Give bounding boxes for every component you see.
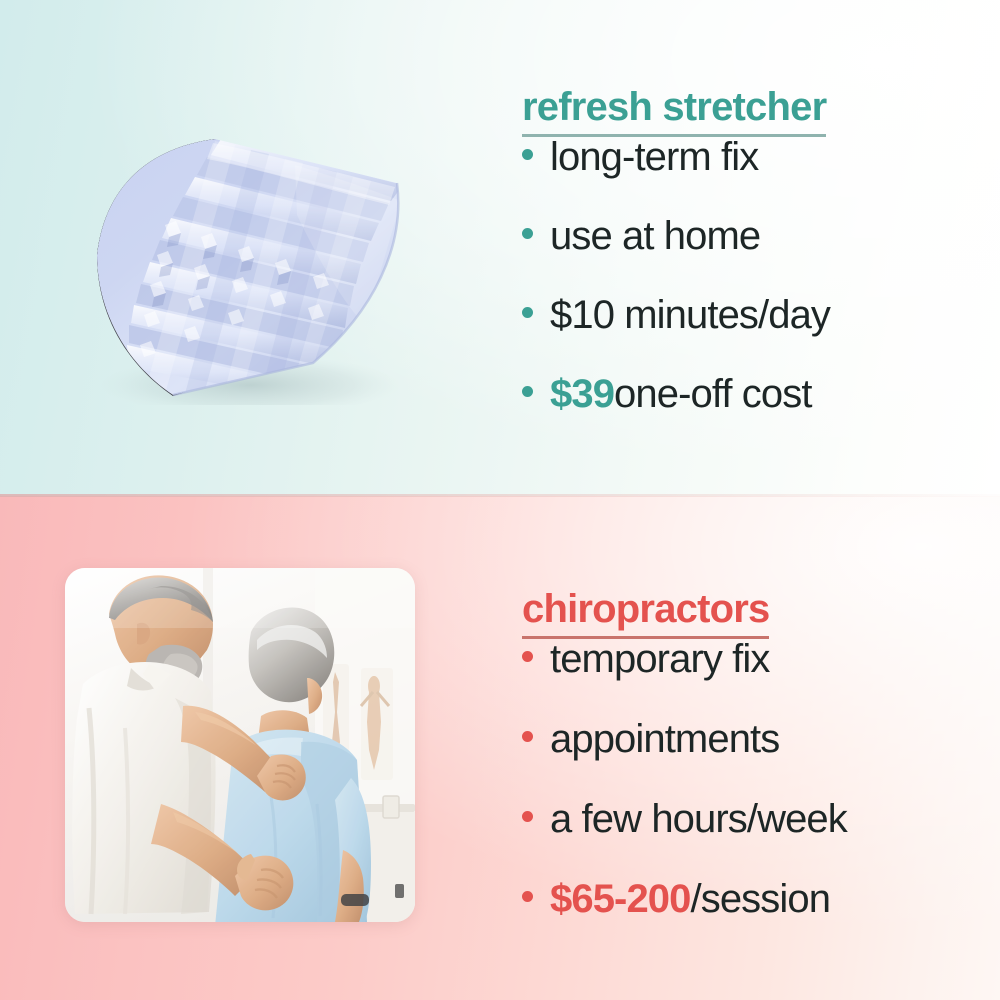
top-text-column: refresh stretcher long-term fix use at h… [522,86,982,453]
bullet-dot-icon [522,149,533,160]
bullet-text: temporary fix [550,639,769,679]
top-panel-refresh-stretcher: refresh stretcher long-term fix use at h… [0,0,1000,496]
bullet-text: a few hours/week [550,799,847,839]
price-highlight: $39 [550,374,614,414]
back-stretcher-illustration [45,105,445,405]
bullet-text: use at home [550,216,760,256]
list-item: use at home [522,216,982,256]
list-item: appointments [522,719,992,759]
bullet-dot-icon [522,891,533,902]
bullet-dot-icon [522,228,533,239]
bullet-dot-icon [522,731,533,742]
bullet-dot-icon [522,651,533,662]
chiropractor-treating-patient-photo [65,568,415,922]
bullet-dot-icon [522,811,533,822]
list-item: $10 minutes/day [522,295,982,335]
bottom-text-column: chiropractors temporary fix appointments… [522,588,992,959]
bottom-drawbacks-list: temporary fix appointments a few hours/w… [522,639,992,919]
back-stretcher-product-photo [45,105,445,405]
list-item: temporary fix [522,639,992,679]
bullet-dot-icon [522,386,533,397]
bullet-text: /session [691,879,831,919]
bullet-text: $10 minutes/day [550,295,830,335]
list-item: $65-200 /session [522,879,992,919]
bullet-text: appointments [550,719,779,759]
list-item: long-term fix [522,137,982,177]
top-heading-refresh-stretcher: refresh stretcher [522,86,826,137]
bullet-dot-icon [522,307,533,318]
chiropractor-scene-illustration [65,568,415,922]
top-benefits-list: long-term fix use at home $10 minutes/da… [522,137,982,414]
bottom-heading-chiropractors: chiropractors [522,588,769,639]
price-highlight: $65-200 [550,879,691,919]
list-item: a few hours/week [522,799,992,839]
bullet-text: one-off cost [614,374,811,414]
comparison-infographic: refresh stretcher long-term fix use at h… [0,0,1000,1000]
bullet-text: long-term fix [550,137,758,177]
list-item: $39 one-off cost [522,374,982,414]
panel-divider [0,494,1000,497]
